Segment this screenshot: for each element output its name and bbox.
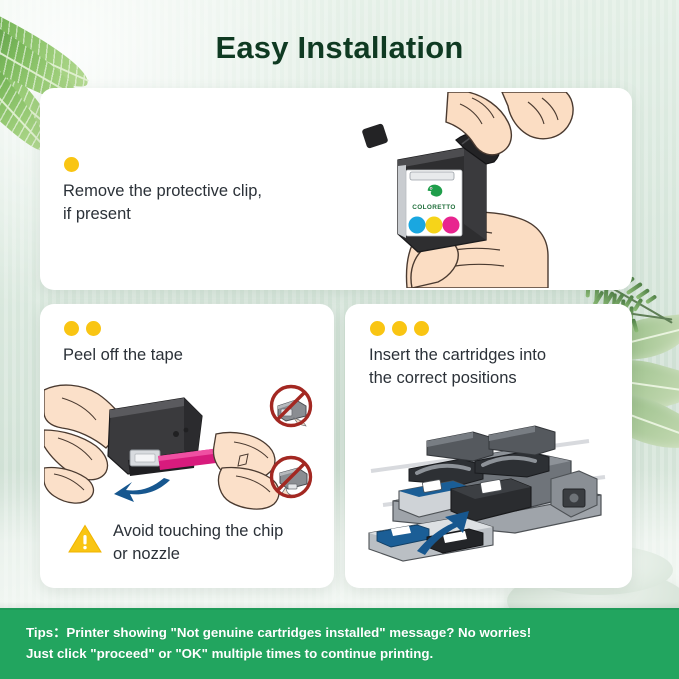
do-not-touch-contacts-icon bbox=[269, 384, 313, 428]
banner-shadow bbox=[0, 602, 679, 610]
tips-banner-text: Tips：Printer showing "Not genuine cartri… bbox=[0, 623, 545, 664]
svg-text:COLORETTO: COLORETTO bbox=[412, 204, 456, 211]
step-1-label: Remove the protective clip, if present bbox=[63, 180, 323, 227]
step-2-label: Peel off the tape bbox=[63, 344, 293, 367]
step-2-warning: Avoid touching the chip or nozzle bbox=[68, 520, 298, 566]
step-2-dots bbox=[64, 321, 101, 336]
poster-root: Easy Installation Remove the protective … bbox=[0, 0, 679, 679]
printer-carriage-illustration bbox=[365, 405, 615, 575]
step-dot bbox=[86, 321, 101, 336]
page-title: Easy Installation bbox=[0, 30, 679, 66]
step-dot bbox=[370, 321, 385, 336]
do-not-touch-nozzle-icon bbox=[269, 455, 313, 499]
step-2-warning-label: Avoid touching the chip or nozzle bbox=[113, 520, 283, 566]
step-dot bbox=[392, 321, 407, 336]
step-3-label: Insert the cartridges into the correct p… bbox=[369, 344, 604, 391]
warning-triangle-icon bbox=[68, 524, 102, 554]
step-dot bbox=[64, 157, 79, 172]
step-dot bbox=[414, 321, 429, 336]
step-3-dots bbox=[370, 321, 429, 336]
step-dot bbox=[64, 321, 79, 336]
hand-holding-cartridge-illustration: COLORETTO bbox=[352, 92, 632, 288]
tips-banner: Tips：Printer showing "Not genuine cartri… bbox=[0, 608, 679, 679]
step-1-dots bbox=[64, 157, 79, 172]
